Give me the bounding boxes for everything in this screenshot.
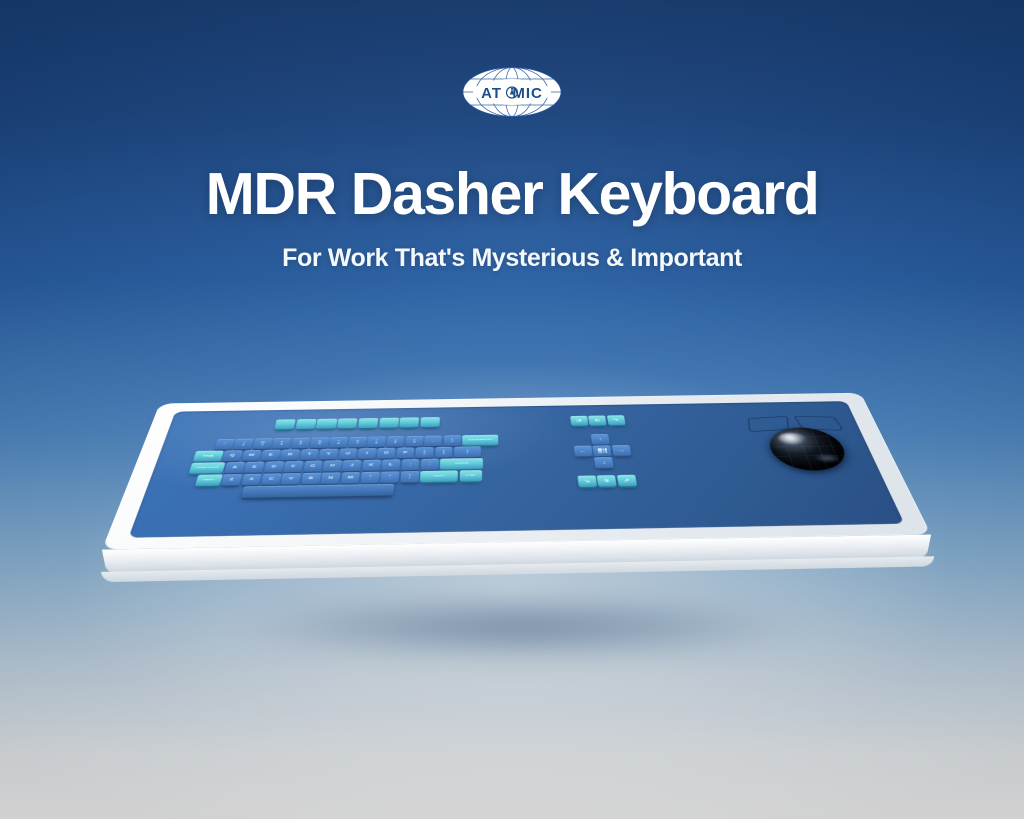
key-o[interactable]: O [377, 448, 396, 459]
key-p[interactable]: P [396, 447, 414, 458]
globe-ellipse-icon: AT MIC [462, 66, 562, 118]
key-6[interactable]: ^6 [329, 437, 348, 447]
key-,[interactable]: <, [361, 472, 380, 483]
refresh-arrow-icon: ↻ [594, 419, 600, 423]
key-legend: ~` [223, 442, 227, 447]
key-legend: M [348, 476, 354, 479]
key-legend: _- [432, 439, 435, 444]
key-][interactable]: }] [435, 447, 453, 458]
undo-arrow-icon[interactable]: ↺ [570, 416, 588, 426]
key-legend: @2 [260, 441, 266, 446]
key-legend: BACKSPACE [469, 439, 493, 441]
key-legend: I [366, 452, 368, 455]
key-legend: "' [428, 462, 431, 467]
key-y[interactable]: Y [319, 449, 338, 460]
key-legend: U [345, 452, 350, 455]
arrow-up-icon[interactable]: ↑ [591, 434, 610, 444]
hero-header: AT MIC ATOMIC MDR Dasher Keyboard For Wo… [0, 0, 1024, 273]
key-legend: W [248, 454, 255, 457]
arrow-down-icon[interactable]: ↓ [594, 457, 613, 468]
arrow-diagonal-up-right-icon: ↗ [623, 478, 630, 483]
keyboard-plate: ~`!1@2#3$4%5^6&7*8(9)0_-+=BACKSPACETABQW… [128, 401, 904, 538]
key-f1[interactable] [274, 419, 295, 429]
key-legend: >. [388, 475, 391, 480]
key-legend: N [328, 477, 333, 480]
key-8[interactable]: *8 [367, 437, 386, 447]
key-legend: K [369, 464, 374, 467]
key-legend: ENTER [455, 463, 468, 465]
key-legend: !1 [242, 442, 246, 447]
key-legend: Y [326, 453, 331, 456]
key-legend: X [249, 478, 254, 481]
redo-arrow-icon: ↷ [613, 418, 619, 422]
arrow-down-icon: ↓ [602, 460, 606, 464]
key-legend: }] [443, 450, 445, 455]
key-q[interactable]: Q [222, 450, 243, 461]
trackball-mesh [763, 427, 852, 471]
key-legend: C [268, 478, 274, 481]
key-7[interactable]: &7 [348, 437, 367, 447]
key-f5[interactable] [358, 418, 378, 428]
arrow-left-icon: ← [579, 449, 587, 453]
key-legend: Q [229, 454, 235, 457]
trackball-sphere[interactable] [763, 427, 852, 471]
key--[interactable]: _- [424, 436, 442, 446]
keyboard-device: ~`!1@2#3$4%5^6&7*8(9)0_-+=BACKSPACETABQW… [102, 393, 931, 550]
arrow-left-icon[interactable]: ← [574, 446, 593, 457]
key-legend: H [330, 464, 335, 467]
key-u[interactable]: U [338, 448, 357, 459]
key-legend: R [287, 453, 292, 456]
key-legend: O [384, 452, 389, 455]
key-legend: SHIFT [433, 475, 445, 477]
key-.[interactable]: >. [380, 471, 399, 482]
arrow-right-icon[interactable]: → [612, 445, 631, 456]
key-legend: T [307, 453, 312, 456]
key-`[interactable]: ~` [214, 439, 234, 449]
arrow-diagonal-down-right-icon: ↘ [584, 479, 591, 484]
key-f6[interactable] [379, 418, 399, 428]
key-w[interactable]: W [241, 450, 261, 461]
key-tab[interactable]: TAB [193, 451, 224, 462]
key-shift[interactable]: SHIFT [420, 470, 458, 482]
grid-icon [598, 449, 608, 454]
key-legend: CAPS LOCK [195, 467, 219, 469]
key-legend: Z [229, 478, 234, 481]
key-legend: += [451, 438, 454, 443]
key-legend: G [310, 465, 316, 468]
key-'[interactable]: "' [421, 459, 439, 470]
key-c[interactable]: C [261, 473, 282, 484]
key-l[interactable]: L [381, 459, 400, 470]
key-f[interactable]: F [283, 461, 303, 472]
key-legend: P [403, 451, 408, 454]
key-\[interactable]: |\ [454, 446, 481, 457]
key-f8[interactable] [420, 417, 440, 427]
key-legend: J [350, 464, 354, 467]
key-legend: (9 [394, 439, 397, 444]
key-legend: %5 [317, 441, 322, 446]
key-=[interactable]: += [443, 435, 461, 445]
grid-icon[interactable] [593, 445, 612, 456]
key[interactable] [241, 484, 394, 498]
key-[[interactable]: {[ [415, 447, 433, 458]
page-subtitle: For Work That's Mysterious & Important [0, 244, 1024, 273]
key-legend: S [252, 466, 257, 469]
arrow-zigzag-icon[interactable]: ↯ [597, 475, 617, 486]
key-enter[interactable]: ENTER [440, 458, 483, 469]
key-f7[interactable] [400, 417, 420, 427]
undo-arrow-icon: ↺ [576, 419, 582, 423]
key-legend: <, [369, 475, 372, 480]
key-shift[interactable]: SHIFT [195, 474, 223, 485]
arrow-diagonal-down-right-icon[interactable]: ↘ [577, 475, 597, 486]
key-i[interactable]: I [358, 448, 377, 459]
key-legend: ^6 [337, 440, 340, 445]
key-legend: &7 [356, 440, 360, 445]
keyboard-case: ~`!1@2#3$4%5^6&7*8(9)0_-+=BACKSPACETABQW… [102, 393, 931, 550]
key-0[interactable]: )0 [405, 436, 423, 446]
key-h[interactable]: H [323, 460, 343, 471]
key-legend: V [289, 477, 294, 480]
key-f2[interactable] [295, 419, 316, 429]
key-d[interactable]: D [264, 461, 284, 472]
key-legend: *8 [375, 440, 378, 445]
key-legend: D [271, 465, 276, 468]
key-legend: CTRL [466, 475, 477, 477]
arrow-zigzag-icon: ↯ [604, 479, 611, 484]
key-t[interactable]: T [299, 449, 319, 460]
key-m[interactable]: M [341, 472, 361, 483]
key-v[interactable]: V [281, 473, 301, 484]
key-legend: L [389, 463, 393, 466]
refresh-arrow-icon[interactable]: ↻ [588, 415, 606, 425]
key-legend: B [308, 477, 313, 480]
key-legend: TAB [202, 455, 213, 458]
key-j[interactable]: J [342, 460, 361, 471]
key-x[interactable]: X [241, 474, 262, 485]
key-legend: ?/ [408, 474, 411, 479]
arrow-right-icon: → [617, 448, 625, 452]
key-legend: SHIFT [203, 479, 215, 481]
key-legend: )0 [413, 439, 416, 444]
key-legend: :; [409, 462, 411, 467]
key-1[interactable]: !1 [234, 439, 254, 449]
key-k[interactable]: K [362, 460, 381, 471]
key-legend: {[ [424, 450, 426, 455]
arrow-up-icon: ↑ [598, 437, 602, 441]
key-5[interactable]: %5 [310, 437, 329, 447]
key-b[interactable]: B [301, 473, 321, 484]
key-caps-lock[interactable]: CAPS LOCK [189, 462, 226, 473]
arrow-diagonal-up-right-icon[interactable]: ↗ [617, 475, 637, 486]
key-z[interactable]: Z [221, 474, 242, 485]
page-title: MDR Dasher Keyboard [0, 160, 1024, 228]
key-ctrl[interactable]: CTRL [460, 470, 482, 481]
key-n[interactable]: N [321, 472, 341, 483]
key-a[interactable]: A [224, 462, 245, 473]
key-g[interactable]: G [303, 461, 323, 472]
key-legend: #3 [280, 441, 284, 446]
atomic-logo: AT MIC ATOMIC [462, 66, 562, 118]
redo-arrow-icon[interactable]: ↷ [607, 415, 626, 425]
key-s[interactable]: S [244, 462, 265, 473]
key-e[interactable]: E [261, 450, 281, 461]
key-r[interactable]: R [280, 449, 300, 460]
key-backspace[interactable]: BACKSPACE [462, 435, 498, 446]
key-9[interactable]: (9 [386, 436, 404, 446]
key-f4[interactable] [337, 418, 358, 428]
key-legend: |\ [467, 450, 468, 455]
key-legend: A [232, 466, 238, 469]
key-legend: E [268, 454, 273, 457]
key-3[interactable]: #3 [272, 438, 292, 448]
key-2[interactable]: @2 [253, 438, 273, 448]
key-/[interactable]: ?/ [400, 471, 419, 482]
key-4[interactable]: $4 [291, 438, 311, 448]
key-legend: $4 [299, 441, 303, 446]
key-legend: F [291, 465, 296, 468]
key-;[interactable]: :; [401, 459, 420, 470]
key-f3[interactable] [316, 419, 337, 429]
keycap-field: ~`!1@2#3$4%5^6&7*8(9)0_-+=BACKSPACETABQW… [175, 401, 846, 411]
